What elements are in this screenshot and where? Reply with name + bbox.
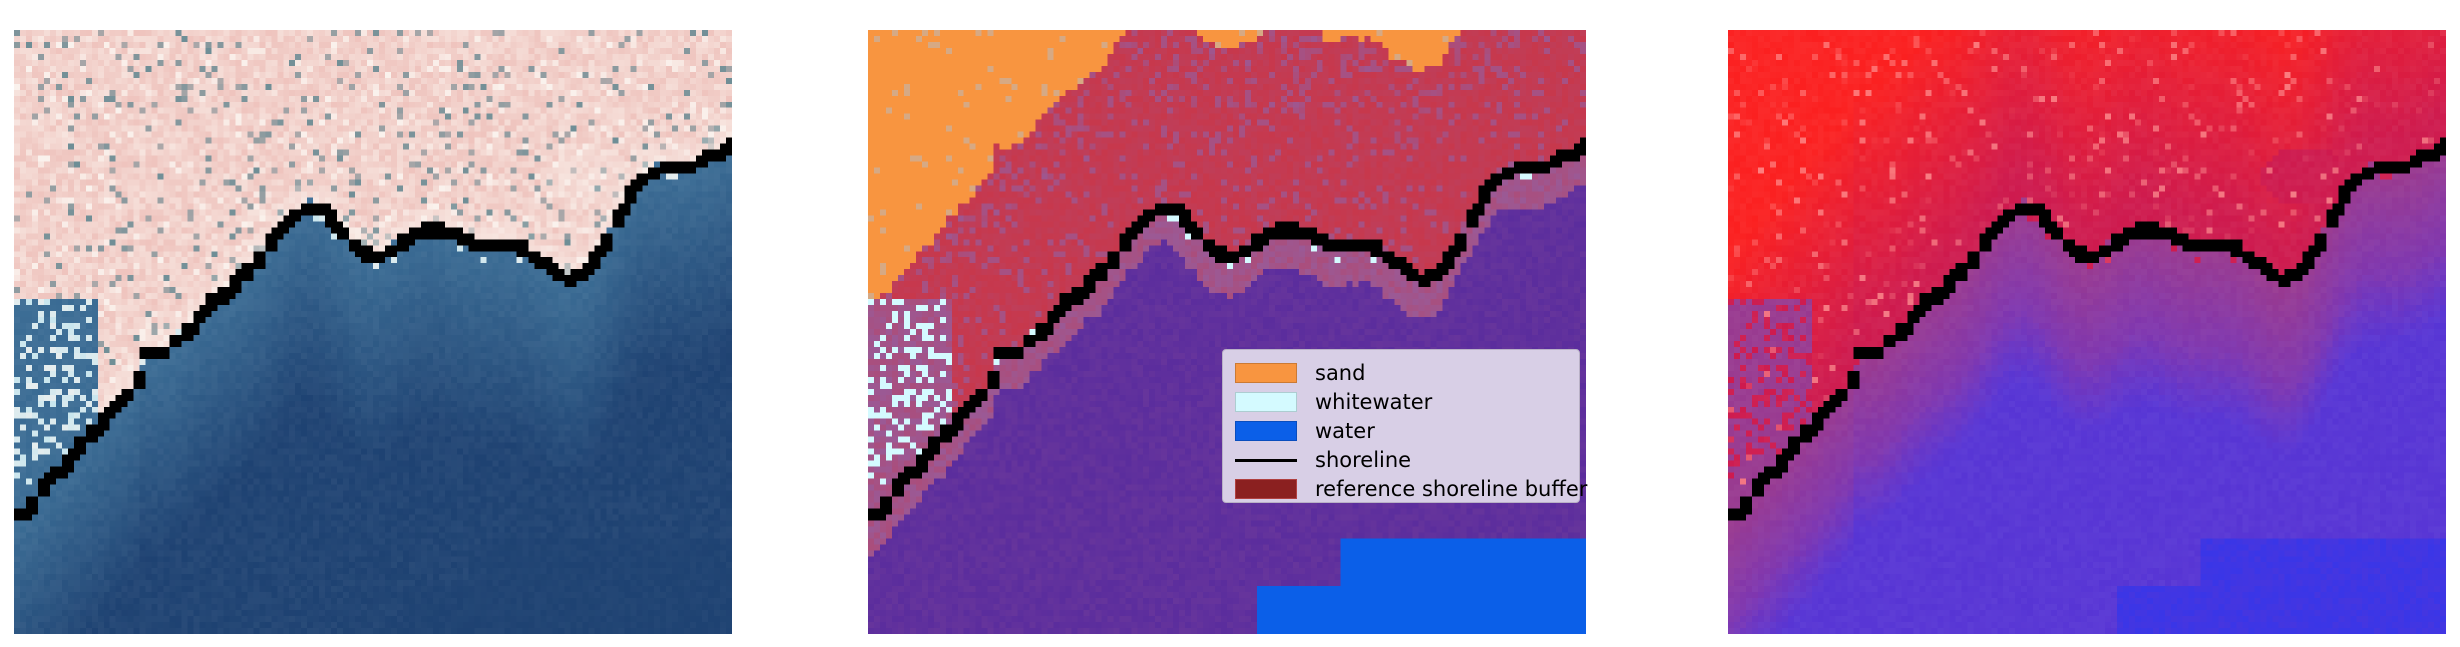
legend-swatch-whitewater [1235,392,1297,412]
legend-swatch-sand [1235,363,1297,383]
legend-label-sand: sand [1315,362,1365,384]
legend-item-water: water [1235,417,1567,445]
panel-l8: L8 [1728,30,2446,634]
legend-item-reference-shoreline-buffer: reference shoreline buffer [1235,475,1567,503]
legend-item-sand: sand [1235,359,1567,387]
panel-classification: 2018-06-30-09-58-36 [868,30,1586,634]
legend-item-whitewater: whitewater [1235,388,1567,416]
legend-label-water: water [1315,420,1375,442]
legend-swatch-shoreline [1235,450,1297,470]
figure-canvas: sar2437 2018-06-30-09-58-36 L8 sand whit… [0,0,2460,647]
legend-label-whitewater: whitewater [1315,391,1432,413]
classification-image [868,30,1586,634]
legend-item-shoreline: shoreline [1235,446,1567,474]
legend-label-shoreline: shoreline [1315,449,1411,471]
panel-sar2437: sar2437 [14,30,732,634]
legend-label-reference-shoreline-buffer: reference shoreline buffer [1315,478,1587,500]
sar2437-image [14,30,732,634]
l8-image [1728,30,2446,634]
legend-box: sand whitewater water shoreline referenc… [1222,349,1580,503]
legend-swatch-reference-shoreline-buffer [1235,479,1297,499]
legend-swatch-water [1235,421,1297,441]
